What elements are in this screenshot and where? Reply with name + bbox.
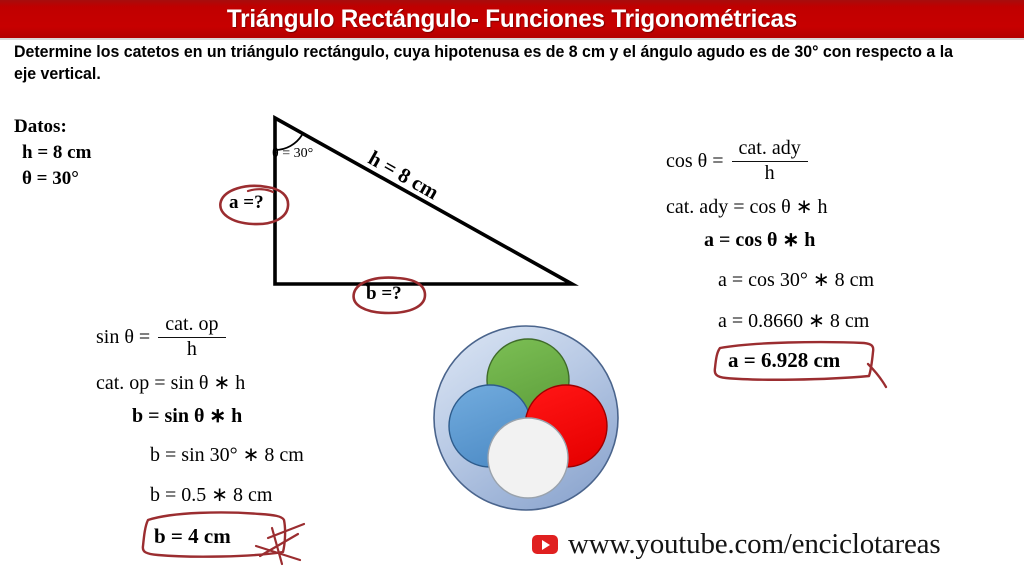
cosine-formula-block: cos θ = cat. ady h cat. ady = cos θ ∗ h …	[666, 138, 874, 333]
youtube-watermark[interactable]: www.youtube.com/enciclotareas	[532, 528, 940, 561]
channel-logo-icon	[428, 318, 628, 530]
datos-line-h: h = 8 cm	[12, 140, 91, 166]
datos-line-theta: θ = 30°	[12, 166, 91, 192]
sine-step-3: b = sin 30° ∗ 8 cm	[150, 442, 304, 467]
answer-a-value: a = 6.928 cm	[728, 348, 840, 373]
answer-b-box: b = 4 cm	[132, 508, 312, 570]
answer-b-value: b = 4 cm	[154, 524, 231, 549]
sine-step-2: b = sin θ ∗ h	[132, 403, 304, 428]
sine-step-1: cat. op = sin θ ∗ h	[96, 370, 304, 395]
cosine-step-4: a = 0.8660 ∗ 8 cm	[718, 308, 874, 333]
problem-statement: Determine los catetos en un triángulo re…	[14, 42, 977, 86]
sine-fraction: cat. op h	[158, 314, 225, 361]
header-banner: Triángulo Rectángulo- Funciones Trigonom…	[0, 0, 1024, 40]
youtube-play-icon	[532, 535, 558, 554]
leg-a-label: a =?	[229, 192, 264, 214]
cosine-step-2: a = cos θ ∗ h	[704, 227, 874, 252]
sine-definition-lhs: sin θ =	[96, 326, 158, 349]
sine-formula-block: sin θ = cat. op h cat. op = sin θ ∗ h b …	[96, 314, 304, 507]
cosine-definition: cos θ = cat. ady h	[666, 138, 874, 185]
cosine-fraction-denominator: h	[765, 162, 775, 185]
leg-a-annotation: a =?	[215, 182, 307, 226]
cosine-step-1: cat. ady = cos θ ∗ h	[666, 194, 874, 219]
angle-label: θ = 30°	[272, 146, 313, 162]
cosine-fraction: cat. ady h	[732, 138, 808, 185]
sine-definition: sin θ = cat. op h	[96, 314, 304, 361]
youtube-url-text: www.youtube.com/enciclotareas	[568, 528, 940, 561]
cosine-fraction-numerator: cat. ady	[732, 138, 808, 161]
sine-fraction-denominator: h	[187, 338, 197, 361]
channel-logo	[428, 318, 628, 530]
sine-step-4: b = 0.5 ∗ 8 cm	[150, 482, 304, 507]
leg-b-annotation: b =?	[349, 275, 441, 315]
datos-title: Datos:	[12, 114, 91, 140]
cosine-step-3: a = cos 30° ∗ 8 cm	[718, 267, 874, 292]
datos-block: Datos: h = 8 cm θ = 30°	[12, 114, 91, 193]
sine-fraction-numerator: cat. op	[158, 314, 225, 337]
cosine-definition-lhs: cos θ =	[666, 150, 732, 173]
leg-b-label: b =?	[366, 283, 402, 305]
page-title: Triángulo Rectángulo- Funciones Trigonom…	[227, 5, 797, 34]
answer-a-box: a = 6.928 cm	[706, 336, 896, 388]
